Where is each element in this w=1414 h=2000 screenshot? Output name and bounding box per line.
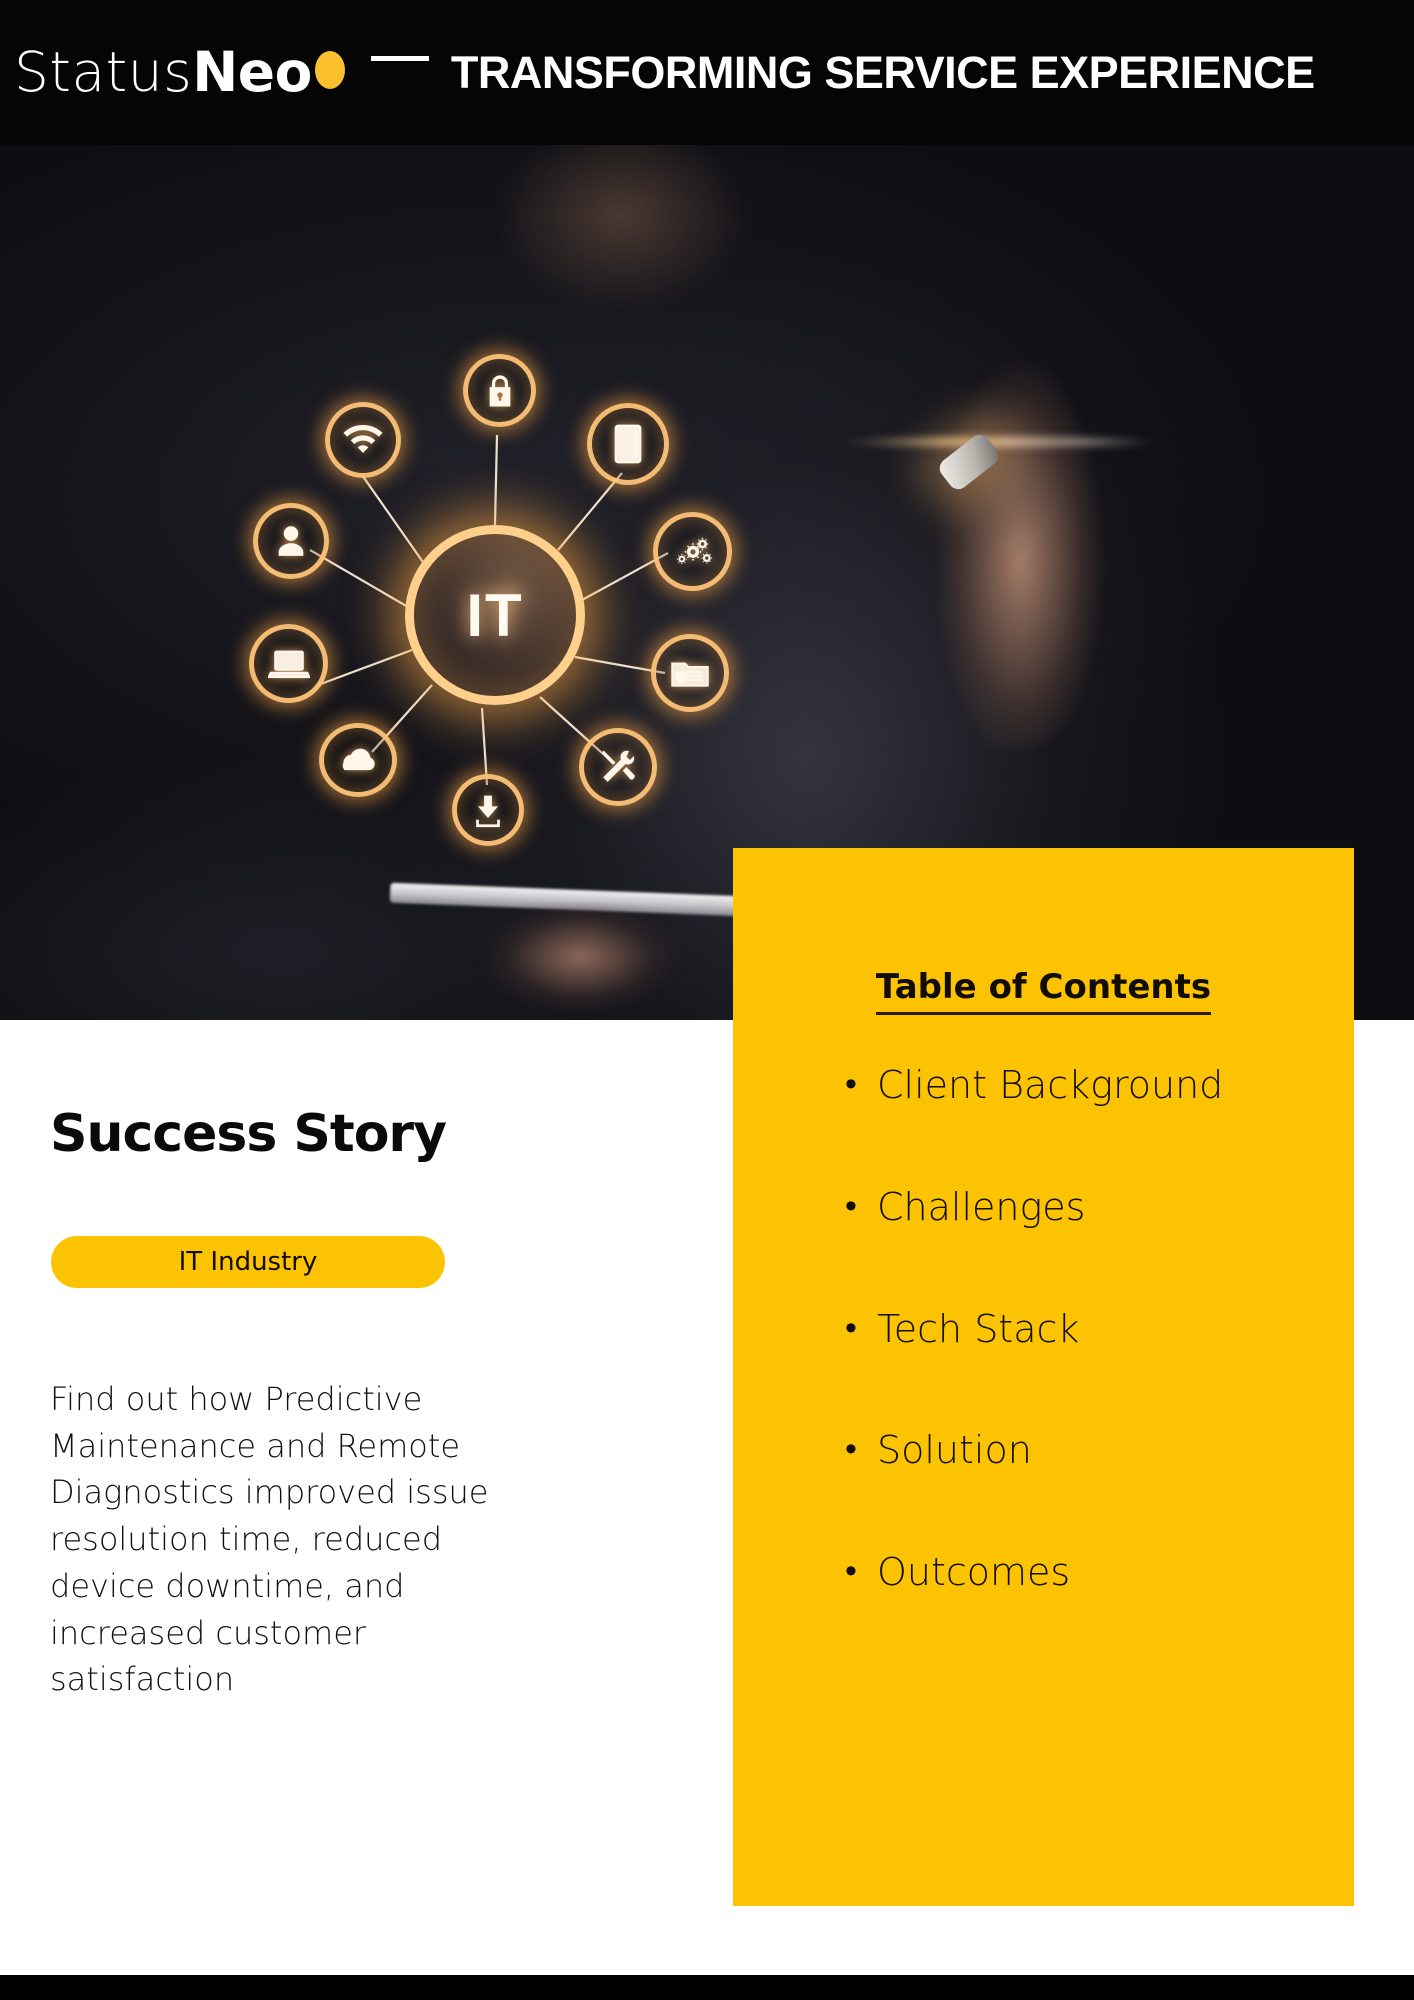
brand-header-bar: StatusNeo TRANSFORMING SERVICE EXPERIENC… [0,0,1414,145]
toc-list: • Client Background • Challenges • Tech … [845,1065,1345,1674]
logo-text-status: Status [14,45,192,100]
wifi-icon [325,402,401,478]
footer-bar [0,1975,1414,2000]
bullet-icon: • [845,1309,877,1348]
toc-item-tech-stack[interactable]: • Tech Stack [845,1309,1345,1351]
case-study-cover-page: StatusNeo TRANSFORMING SERVICE EXPERIENC… [0,0,1414,2000]
toc-item-outcomes[interactable]: • Outcomes [845,1552,1345,1594]
logo-dot-icon [315,51,345,89]
toc-item-label: Outcomes [877,1552,1070,1594]
bullet-icon: • [845,1065,877,1104]
industry-badge-label: IT Industry [179,1247,318,1277]
bullet-icon: • [845,1187,877,1226]
bullet-icon: • [845,1430,877,1469]
toc-item-challenges[interactable]: • Challenges [845,1187,1345,1229]
lock-icon [463,354,536,427]
lead-paragraph: Find out how Predictive Maintenance and … [50,1376,540,1703]
toc-item-label: Tech Stack [877,1309,1079,1351]
toc-item-client-background[interactable]: • Client Background [845,1065,1345,1107]
toc-item-label: Solution [877,1430,1032,1472]
toc-item-label: Challenges [877,1187,1085,1229]
download-icon [452,774,524,846]
toc-title: Table of Contents [876,967,1211,1015]
logo-text-neo: Neo [192,45,312,100]
gears-icon [653,512,732,591]
statusneo-logo[interactable]: StatusNeo [14,45,345,100]
laptop-icon [249,624,328,703]
page-title: Success Story [50,1104,446,1164]
toc-item-solution[interactable]: • Solution [845,1430,1345,1472]
industry-badge: IT Industry [51,1236,445,1288]
brand-tagline: TRANSFORMING SERVICE EXPERIENCE [451,47,1315,99]
secure-folder-icon [651,634,729,712]
user-icon [253,503,329,579]
bullet-icon: • [845,1552,877,1591]
toc-item-label: Client Background [877,1065,1223,1107]
hero-center-node-it: IT [405,525,585,705]
toc-title-wrap: Table of Contents [733,967,1354,1015]
table-of-contents-panel: Table of Contents • Client Background • … [733,848,1354,1906]
cloud-icon [319,723,397,797]
brand-divider-dash [371,56,429,61]
tablet-icon [587,403,669,485]
tools-icon [579,728,657,806]
